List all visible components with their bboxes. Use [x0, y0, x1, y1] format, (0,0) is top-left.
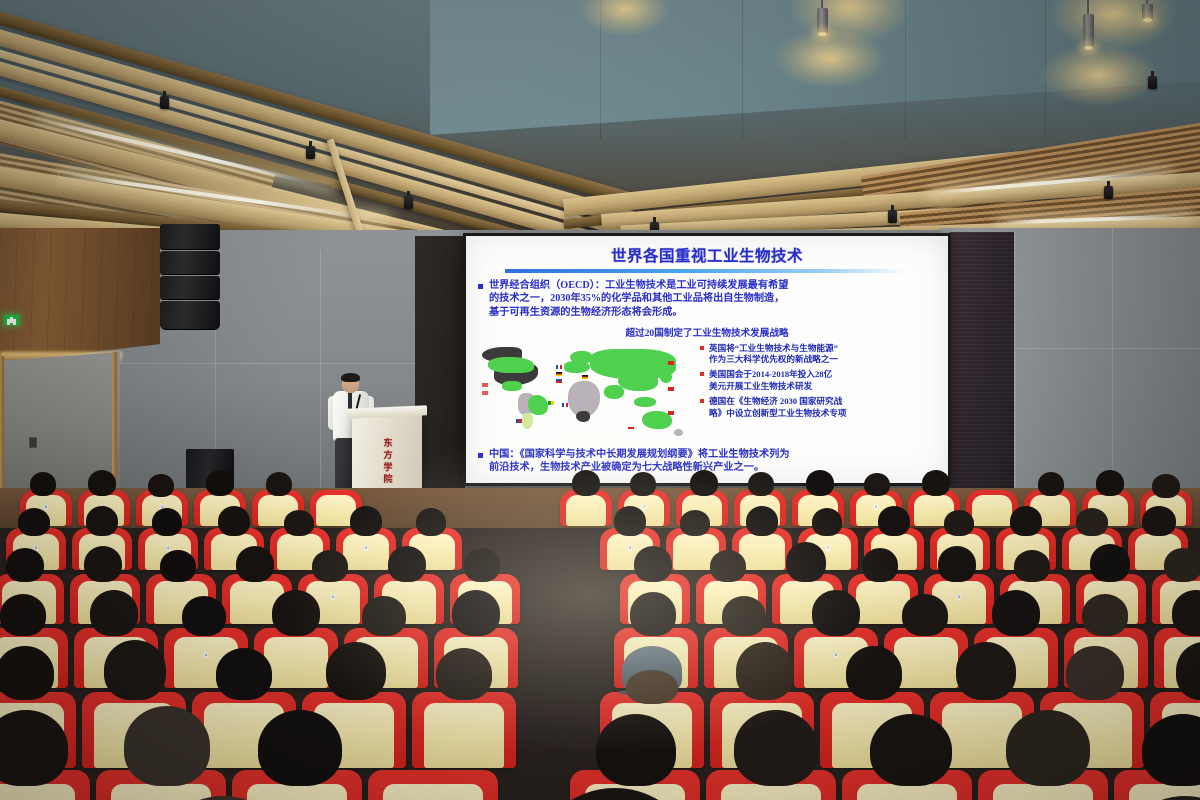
audience-head — [6, 548, 44, 582]
map-flag-chip — [562, 403, 568, 407]
bullet-square-icon — [478, 453, 483, 458]
map-region-usa — [488, 357, 534, 373]
audience-head — [284, 510, 314, 536]
audience-head — [992, 590, 1040, 636]
audience-head — [634, 546, 672, 582]
audience-head — [436, 648, 492, 700]
audience-head — [786, 542, 826, 582]
bullet-square-icon — [700, 346, 704, 350]
map-flag-chip — [556, 379, 562, 383]
map-flag-chip — [516, 419, 522, 423]
projection-screen: 世界各国重视工业生物技术 世界经合组织（OECD）：工业生物技术是工业可持续发展… — [466, 236, 948, 483]
audience-head — [846, 646, 902, 700]
audience-head — [710, 550, 746, 582]
audience-head — [626, 670, 678, 704]
line-array-speaker — [160, 224, 220, 331]
podium-top-surface — [347, 405, 427, 418]
wall-seam — [742, 0, 743, 140]
presenter-tie — [348, 393, 352, 409]
right-point-line: 美国国会于2014-2018年投入28亿 — [709, 369, 832, 380]
audience-head — [690, 470, 718, 496]
ceiling-spotlight — [404, 196, 413, 209]
audience-head — [1090, 544, 1130, 582]
audience-head — [922, 470, 950, 496]
audience-head — [464, 548, 500, 582]
audience-head — [1014, 550, 1050, 582]
map-region-southeast-asia — [634, 397, 656, 407]
ceiling-spotlight — [160, 96, 169, 109]
audience-head — [86, 506, 118, 536]
audience-head — [1164, 548, 1200, 582]
presenter-hair — [341, 373, 360, 382]
map-flag-chip — [482, 383, 488, 387]
audience-head — [0, 594, 46, 636]
map-flag-chip — [556, 365, 562, 369]
seat — [368, 770, 498, 800]
audience-head — [1152, 474, 1180, 498]
map-region-new-zealand — [674, 429, 683, 436]
ceiling-spotlight — [306, 146, 315, 159]
wall-seam — [1045, 0, 1046, 140]
audience-head — [326, 642, 386, 700]
audience-head — [362, 596, 406, 636]
map-flag-chip — [548, 401, 554, 405]
audience-head — [630, 592, 676, 636]
pendant-downlight — [817, 8, 828, 34]
audience-head — [272, 590, 320, 636]
audience-head — [1038, 472, 1064, 496]
audience-head — [104, 640, 166, 700]
screen-side-panel — [415, 236, 465, 488]
bullet-square-icon — [478, 284, 483, 289]
map-region-argentina — [522, 413, 533, 429]
audience-head — [160, 550, 196, 582]
wall-panel-seam — [120, 363, 460, 364]
pendant-downlight — [1083, 14, 1094, 48]
dark-wall-curtain — [948, 232, 1016, 498]
wood-wall-panel — [0, 228, 160, 363]
exit-sign — [4, 315, 19, 325]
map-region-india — [604, 385, 624, 399]
audience-head — [596, 714, 676, 786]
audience-head — [1006, 710, 1090, 786]
audience-head — [812, 590, 860, 636]
map-flag-chip — [482, 391, 488, 395]
bullet-line: 的技术之一，2030年35%的化学品和其他工业品将出自生物制造， — [489, 292, 788, 306]
wall-panel-seam — [320, 250, 321, 490]
ceiling-spotlight — [1104, 186, 1113, 199]
audience-head — [722, 596, 766, 636]
audience-head — [862, 548, 898, 582]
audience-head — [206, 470, 234, 496]
map-region-europe — [564, 361, 590, 373]
audience-head — [182, 596, 226, 636]
projection-screen-frame: 世界各国重视工业生物技术 世界经合组织（OECD）：工业生物技术是工业可持续发展… — [463, 233, 951, 486]
audience-head — [452, 590, 500, 636]
audience-head — [258, 710, 342, 786]
audience-head — [236, 546, 274, 582]
map-flag-chip — [668, 411, 674, 415]
world-map-graphic — [478, 341, 696, 445]
audience-head — [416, 508, 446, 536]
audience-head — [1076, 508, 1108, 536]
audience-head — [902, 594, 948, 636]
audience-seating: 6 5 4 7 8 2 6 4 — [0, 470, 1200, 800]
bullet-text-block: 世界经合组织（OECD）：工业生物技术是工业可持续发展最有希望 的技术之一，20… — [489, 279, 788, 320]
audience-head — [812, 508, 842, 536]
audience-head — [30, 472, 56, 496]
map-flag-chip — [582, 375, 588, 379]
title-underline-rule — [505, 269, 909, 273]
slide-bullet-oecd: 世界经合组织（OECD）：工业生物技术是工业可持续发展最有希望 的技术之一，20… — [478, 279, 936, 320]
audience-head — [630, 472, 656, 496]
seat — [412, 692, 516, 768]
right-point: 英国将“工业生物技术与生物能源” 作为三大科学优先权的新战略之一 — [700, 343, 936, 366]
audience-head — [218, 506, 250, 536]
pendant-downlight — [1142, 4, 1153, 20]
audience-head — [572, 470, 600, 496]
audience-head — [944, 510, 974, 536]
right-point-line: 英国将“工业生物技术与生物能源” — [709, 343, 838, 354]
audience-head — [350, 506, 382, 536]
ceiling — [0, 0, 1200, 240]
map-flag-chip — [668, 387, 674, 391]
wall-panel-seam — [1015, 348, 1200, 349]
wall-panel-seam — [1112, 228, 1113, 494]
audience-head — [88, 470, 116, 496]
audience-head — [84, 546, 122, 582]
audience-head — [216, 648, 272, 700]
slide-subheading: 超过20国制定了工业生物技术发展战略 — [478, 325, 936, 339]
bullet-line: 中国：《国家科学与技术中长期发展规划纲要》将工业生物技术列为 — [489, 448, 790, 462]
audience-head — [1010, 506, 1042, 536]
audience-head — [1066, 646, 1124, 700]
slide-title: 世界各国重视工业生物技术 — [478, 248, 936, 265]
audience-head — [124, 706, 210, 786]
right-point-line: 美元开展工业生物技术研发 — [709, 381, 832, 392]
wall-seam — [600, 0, 601, 140]
audience-head — [938, 546, 976, 582]
right-point: 美国国会于2014-2018年投入28亿 美元开展工业生物技术研发 — [700, 369, 936, 392]
audience-head — [806, 470, 834, 496]
bullet-square-icon — [700, 399, 704, 403]
bullet-line: 基于可再生资源的生物经济形态将会形成。 — [489, 306, 788, 320]
audience-head — [864, 473, 890, 496]
audience-head — [266, 472, 292, 496]
audience-head — [746, 506, 778, 536]
audience-head — [18, 508, 50, 536]
audience-head — [956, 642, 1016, 700]
audience-head — [614, 506, 646, 536]
map-flag-chip — [556, 372, 562, 376]
map-region-brazil — [528, 395, 548, 415]
bullet-square-icon — [700, 372, 704, 376]
map-region-japan — [660, 371, 672, 383]
right-point-line: 德国在《生物经济 2030 国家研究战 — [709, 396, 847, 407]
audience-head — [870, 714, 952, 786]
audience-head — [734, 710, 818, 786]
map-region-mexico — [502, 381, 522, 391]
right-point-line: 略》中设立创新型工业生物技术专项 — [709, 408, 847, 419]
audience-head — [90, 590, 138, 636]
audience-head — [1096, 470, 1124, 496]
map-flag-chip — [668, 361, 674, 365]
audience-head — [388, 546, 426, 582]
audience-head — [680, 510, 710, 536]
map-flag-chip — [628, 427, 634, 431]
wall-outlet — [29, 437, 37, 448]
wall-seam — [905, 0, 906, 140]
ceiling-spotlight — [888, 210, 897, 223]
right-point-line: 作为三大科学优先权的新战略之一 — [709, 354, 838, 365]
presentation-slide: 世界各国重视工业生物技术 世界经合组织（OECD）：工业生物技术是工业可持续发展… — [466, 236, 948, 483]
slide-middle-row: 英国将“工业生物技术与生物能源” 作为三大科学优先权的新战略之一 美国国会于20… — [478, 341, 936, 445]
audience-head — [312, 550, 348, 582]
ceiling-spotlight — [1148, 76, 1157, 89]
auditorium-scene: 世界各国重视工业生物技术 世界经合组织（OECD）：工业生物技术是工业可持续发展… — [0, 0, 1200, 800]
audience-head — [152, 508, 182, 536]
map-region-china — [618, 371, 658, 391]
right-point: 德国在《生物经济 2030 国家研究战 略》中设立创新型工业生物技术专项 — [700, 396, 936, 419]
map-region-south-africa — [576, 411, 590, 422]
bullet-line: 世界经合组织（OECD）：工业生物技术是工业可持续发展最有希望 — [489, 279, 788, 293]
audience-head — [748, 472, 774, 496]
audience-head — [736, 642, 794, 700]
audience-head — [1082, 594, 1128, 636]
audience-head — [878, 506, 910, 536]
audience-head — [148, 474, 174, 497]
audience-head — [1142, 506, 1176, 536]
audience-head — [0, 646, 54, 700]
slide-right-points: 英国将“工业生物技术与生物能源” 作为三大科学优先权的新战略之一 美国国会于20… — [700, 341, 936, 445]
